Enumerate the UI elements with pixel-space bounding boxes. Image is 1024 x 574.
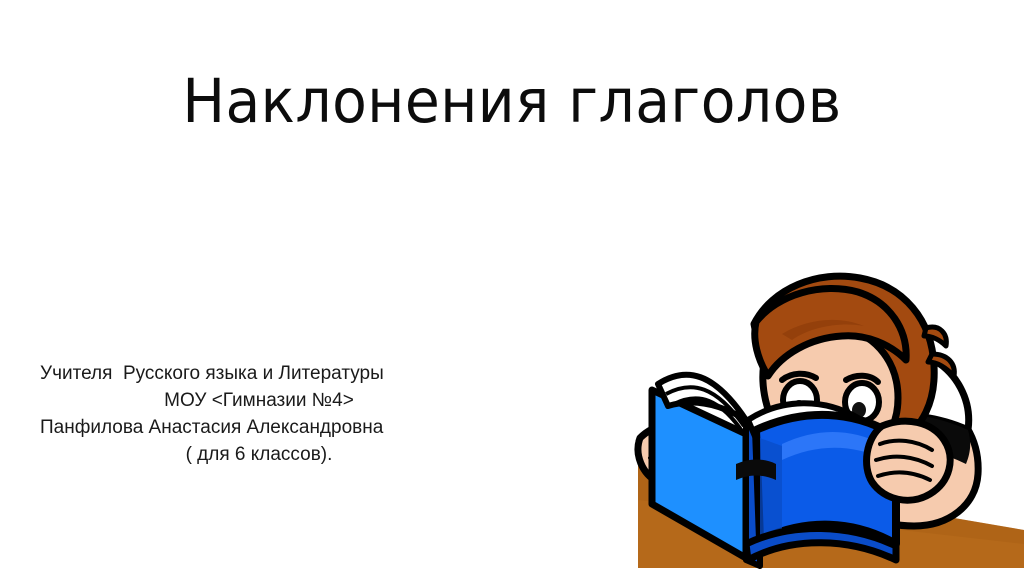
right-hand xyxy=(867,421,951,500)
page-title: Наклонения глаголов xyxy=(36,65,988,139)
subtitle-block: Учителя Русского языка и Литературы МОУ … xyxy=(24,360,494,468)
subtitle-line-3: Панфилова Анастасия Александровна xyxy=(24,414,494,441)
subtitle-line-4: ( для 6 классов). xyxy=(24,441,494,468)
boy-reading-book-illustration xyxy=(596,268,1024,574)
subtitle-line-1: Учителя Русского языка и Литературы xyxy=(24,360,494,387)
boy-reading-book-icon xyxy=(596,268,1024,574)
presentation-slide: Наклонения глаголов Учителя Русского язы… xyxy=(0,0,1024,574)
subtitle-line-2: МОУ <Гимназии №4> xyxy=(24,387,494,414)
